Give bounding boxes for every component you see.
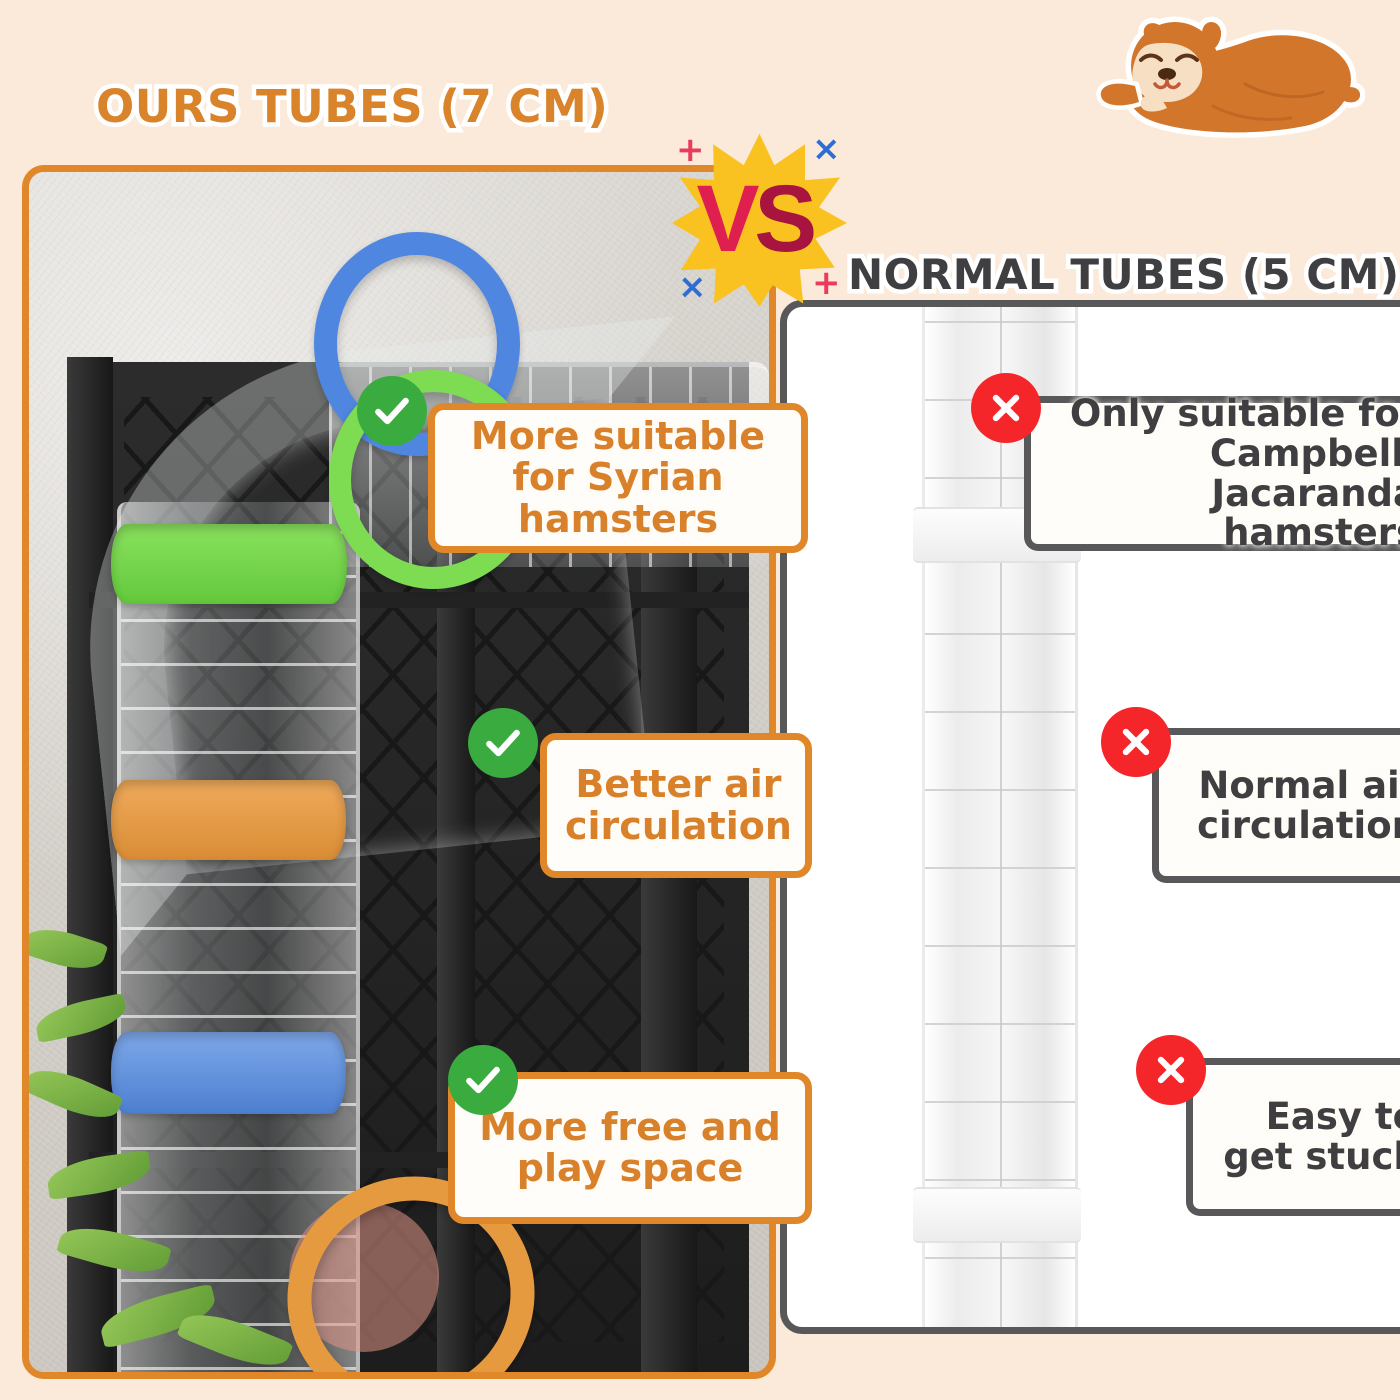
feature-callout-good-2[interactable]: Better air circulation <box>540 733 812 878</box>
left-column-title: OURS TUBES (7 CM) <box>96 80 608 133</box>
feature-callout-good-3-text: More free and play space <box>455 1107 805 1189</box>
vs-burst-badge: V S <box>672 132 847 307</box>
x-icon <box>971 373 1041 443</box>
hamster-mascot-icon <box>1095 14 1365 144</box>
feature-callout-bad-3[interactable]: Easy to get stuck <box>1186 1058 1400 1216</box>
right-column-title: NORMAL TUBES (5 CM) <box>848 250 1400 299</box>
svg-text:V: V <box>696 166 759 272</box>
check-icon <box>448 1045 518 1115</box>
feature-callout-good-2-text: Better air circulation <box>547 764 810 846</box>
feature-callout-good-1-text: More suitable for Syrian hamsters <box>435 416 801 539</box>
check-icon <box>357 376 427 446</box>
feature-callout-bad-2-text: Normal air circulation <box>1159 766 1400 846</box>
infographic-root: OURS TUBES (7 CM) NORMAL TUBES (5 CM) + … <box>0 0 1400 1400</box>
svg-text:S: S <box>754 166 817 272</box>
tube-joint <box>913 1187 1081 1243</box>
feature-callout-bad-3-text: Easy to get stuck <box>1193 1097 1400 1177</box>
feature-callout-bad-1-text: Only suitable for Campbell, Jacaranda ha… <box>1031 394 1400 554</box>
x-icon <box>1101 707 1171 777</box>
x-icon <box>1136 1035 1206 1105</box>
tube-ring-blue <box>111 1032 346 1114</box>
cage-post-left <box>67 357 113 1372</box>
feature-callout-bad-1[interactable]: Only suitable for Campbell, Jacaranda ha… <box>1024 396 1400 551</box>
tube-ring-orange <box>111 780 346 860</box>
feature-callout-bad-2[interactable]: Normal air circulation <box>1152 728 1400 883</box>
feature-callout-good-1[interactable]: More suitable for Syrian hamsters <box>428 403 808 553</box>
check-icon <box>468 708 538 778</box>
tube-ring-green <box>111 524 347 604</box>
